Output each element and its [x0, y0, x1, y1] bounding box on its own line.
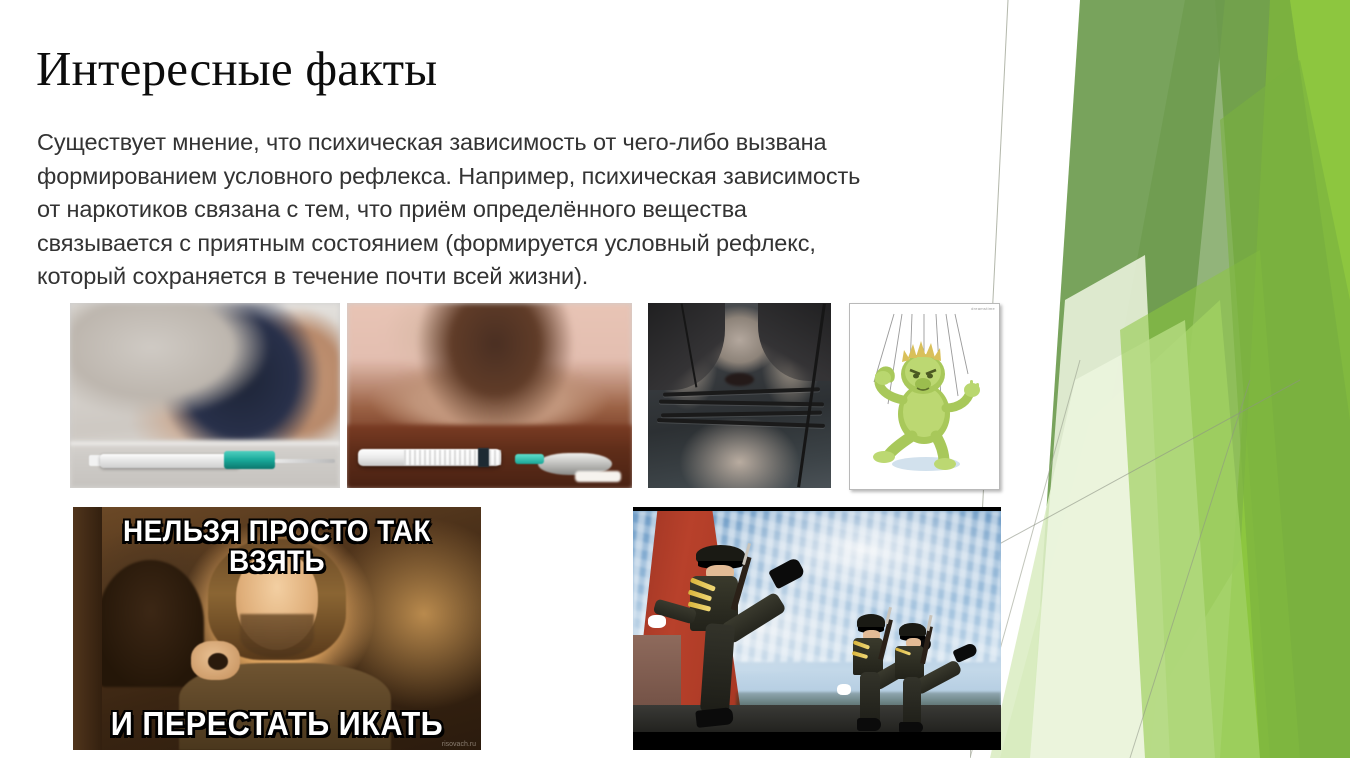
green-polygon-decoration: [970, 0, 1350, 758]
body-line: связывается с приятным состоянием (форми…: [37, 227, 967, 261]
image-inner: [633, 507, 1001, 750]
puppet-foot-right: [934, 458, 956, 470]
decor-shape-green-overlay-2: [1220, 60, 1350, 758]
image-inner: [70, 303, 340, 488]
watermark-text: risovach.ru: [442, 741, 476, 748]
decor-shape-pale-lower: [990, 320, 1215, 758]
letterbox-bottom: [633, 732, 1001, 750]
decor-hairline-4: [1130, 380, 1250, 758]
puppet-pupil-right: [927, 374, 933, 379]
marionette-illustration: [850, 304, 999, 489]
decor-shape-dark-green: [1030, 0, 1225, 758]
watermark-text: dreamstime: [971, 306, 995, 311]
soldier-glove: [837, 684, 850, 695]
puppet-body-light: [903, 387, 945, 437]
decor-shape-mid-right: [1215, 0, 1350, 758]
soldier-standing-boot: [696, 707, 735, 727]
meme-top-text: НЕЛЬЗЯ ПРОСТО ТАК ВЗЯТЬ: [87, 517, 466, 577]
puppet-pupil-left: [913, 374, 919, 379]
image-honour-guard: [633, 507, 1001, 750]
syringe-green-section: [224, 451, 275, 469]
soldier-right: [876, 621, 972, 733]
decoration-svg: [970, 0, 1350, 758]
soldier-standing-leg: [700, 623, 735, 713]
image-inner: [648, 303, 831, 488]
image-inner: НЕЛЬЗЯ ПРОСТО ТАК ВЗЯТЬ И ПЕРЕСТАТЬ ИКАТ…: [73, 507, 481, 750]
image-face-cords: [648, 303, 831, 488]
image-inner: dreamstime: [850, 304, 999, 489]
ring-object: [208, 653, 228, 670]
body-line: формированием условного рефлекса. Наприм…: [37, 160, 967, 194]
slide-canvas: Интересные факты Существует мнение, что …: [0, 0, 1350, 758]
decor-shape-very-pale: [1030, 255, 1170, 758]
image-woman-table-syringe: [347, 303, 632, 488]
syringe-green-hub: [515, 454, 544, 464]
letterbox-top: [633, 507, 1001, 511]
soldier-foreground: [648, 541, 810, 726]
soldier-raised-boot: [768, 557, 806, 590]
image-inner: [347, 303, 632, 488]
puppet-hand-right: [964, 380, 980, 397]
syringe-plunger-seal: [478, 448, 489, 467]
decor-hairline-3: [970, 380, 1300, 560]
image-man-syringe: [70, 303, 340, 488]
decor-shape-green-overlay: [1120, 250, 1300, 758]
decor-shape-dark-green-2: [1045, 0, 1270, 758]
decor-shape-bright-right: [1220, 0, 1350, 758]
image-marionette: dreamstime: [849, 303, 1000, 490]
photo-table-highlight: [70, 442, 340, 447]
syringe-barrel: [100, 454, 240, 468]
puppet-foot-left: [873, 451, 895, 463]
meme-bottom-text: И ПЕРЕСТАТЬ ИКАТЬ: [87, 707, 466, 740]
decor-shape-light-lower: [1000, 300, 1260, 758]
body-paragraph: Существует мнение, что психическая завис…: [37, 126, 967, 294]
character-beard: [240, 614, 313, 658]
syringe-needle: [275, 459, 334, 463]
body-line: от наркотиков связана с тем, что приём о…: [37, 193, 967, 227]
puppet-hand-left: [875, 371, 891, 385]
image-boromir-meme: НЕЛЬЗЯ ПРОСТО ТАК ВЗЯТЬ И ПЕРЕСТАТЬ ИКАТ…: [73, 507, 481, 750]
body-line: Существует мнение, что психическая завис…: [37, 126, 967, 160]
soldier-glove: [648, 615, 666, 628]
page-title: Интересные факты: [36, 40, 936, 98]
body-line: который сохраняется в течение почти всей…: [37, 260, 967, 294]
background-arch: [97, 560, 203, 686]
powder: [575, 471, 621, 482]
